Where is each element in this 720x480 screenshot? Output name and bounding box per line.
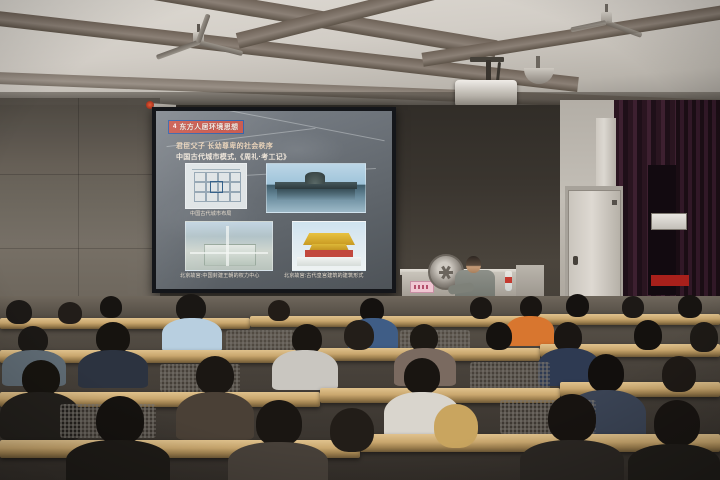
red-banner — [651, 275, 689, 286]
screen-background-image — [156, 111, 392, 289]
audience-torso — [628, 444, 720, 480]
audience-head — [196, 356, 234, 394]
audience-head — [22, 360, 60, 396]
audience-head — [330, 408, 374, 452]
audience-head — [100, 296, 122, 318]
lecturer-head — [466, 256, 481, 273]
projector-icon — [455, 80, 517, 107]
audience-torso — [66, 440, 170, 480]
slide-caption-middle: 中国古代城市布局 — [190, 210, 232, 217]
slide-subtitle-line1: 君臣父子 长幼尊卑的社会秩序 — [176, 141, 273, 151]
audience-torso — [506, 316, 554, 346]
audience-head — [256, 400, 302, 446]
audience-torso — [520, 440, 624, 480]
audience-head — [6, 300, 32, 324]
left-wall-panel — [0, 98, 160, 320]
audience-torso — [176, 392, 254, 440]
audience-head — [634, 320, 662, 350]
audience-head — [96, 396, 144, 444]
audience-head — [58, 302, 82, 324]
audience-head — [662, 356, 696, 392]
audience-head — [404, 358, 440, 394]
slide-title-number: 4 — [173, 124, 176, 130]
lecture-hall-photo: 4 东方人居环境思想 君臣父子 长幼尊卑的社会秩序 中国古代城市模式,《周礼·考… — [0, 0, 720, 480]
audience-head — [486, 322, 512, 350]
slide-subtitle-line2: 中国古代城市模式,《周礼·考工记》 — [176, 152, 290, 162]
audience-head — [588, 354, 624, 392]
door-handle-icon[interactable] — [573, 256, 578, 265]
door-hinge — [612, 200, 617, 205]
slide-title-band: 4 东方人居环境思想 — [168, 120, 244, 134]
audience-head — [268, 300, 290, 321]
ceiling-fan-icon — [566, 4, 646, 34]
water-bottle-icon — [505, 271, 512, 291]
audience-head — [548, 394, 596, 442]
audience-head — [690, 322, 718, 352]
ancient-city-grid-diagram — [185, 163, 247, 209]
projector-mount — [486, 60, 491, 82]
audience-torso — [228, 442, 328, 480]
audience-head — [520, 296, 542, 318]
slide-caption-bottom-right: 北京故宫:古代皇宫建筑的建筑形式 — [284, 272, 364, 279]
audience-head — [654, 400, 700, 446]
forbidden-city-hall-photo — [292, 221, 366, 271]
projection-screen: 4 东方人居环境思想 君臣父子 长幼尊卑的社会秩序 中国古代城市模式,《周礼·考… — [156, 111, 392, 289]
wall-sign — [651, 213, 687, 230]
audience-torso — [78, 350, 148, 388]
audience-head — [622, 296, 644, 318]
slide-caption-bottom-left: 北京故宫:中国封建王朝的权力中心 — [180, 272, 260, 279]
audience-head — [678, 295, 702, 318]
podium-placard — [410, 281, 434, 293]
audience-head — [344, 320, 374, 350]
audience-head — [470, 297, 492, 319]
slide-title-text: 东方人居环境思想 — [179, 122, 238, 132]
aerial-palace-axis-photo — [185, 221, 273, 271]
audience-torso — [272, 350, 338, 390]
temple-water-reflection-photo — [266, 163, 366, 213]
audience-head — [434, 404, 478, 448]
ceiling-fan-icon — [152, 24, 244, 58]
audience-head — [566, 294, 589, 317]
auditorium-seat-back — [470, 362, 550, 390]
audience-torso — [162, 318, 222, 352]
